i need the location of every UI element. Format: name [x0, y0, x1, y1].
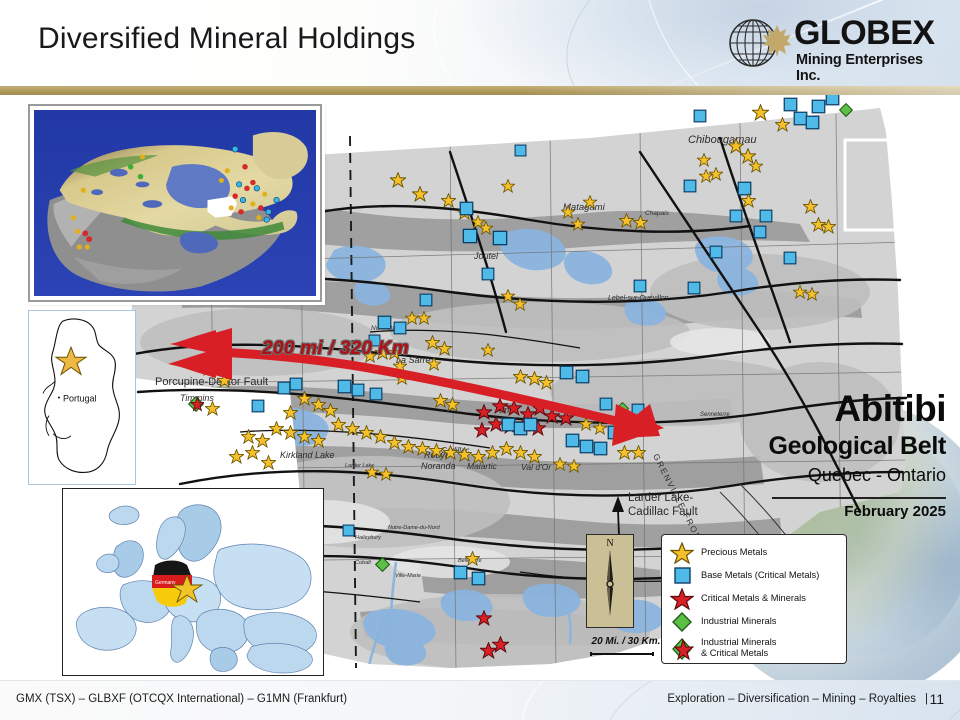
marker-base-metals[interactable]	[579, 439, 594, 454]
scale-bar-label: 20 Mi. / 30 Km.	[578, 636, 674, 647]
marker-base-metals[interactable]	[759, 209, 773, 223]
footer-tickers: GMX (TSX) – GLBXF (OTCQX International) …	[16, 693, 347, 705]
logo-wordmark: GLOBEX	[794, 14, 935, 53]
marker-precious-metals[interactable]	[379, 467, 393, 481]
marker-base-metals[interactable]	[709, 245, 723, 259]
north-america-inset-map	[34, 110, 316, 296]
map-label-senneterre: Senneterre	[700, 412, 730, 418]
marker-precious-metals[interactable]	[631, 445, 646, 460]
marker-base-metals[interactable]	[514, 144, 527, 157]
marker-base-metals[interactable]	[811, 99, 826, 114]
marker-precious-metals[interactable]	[311, 433, 326, 448]
marker-precious-metals[interactable]	[803, 199, 818, 214]
marker-critical-metals[interactable]	[476, 610, 492, 626]
marker-precious-metals[interactable]	[283, 405, 298, 420]
map-label-notre-dame-du-nord: Notre-Dame-du-Nord	[388, 525, 440, 531]
page-title: Diversified Mineral Holdings	[38, 22, 415, 56]
marker-base-metals[interactable]	[559, 365, 574, 380]
legend-label-base-metals: Base Metals (Critical Metals)	[701, 570, 819, 580]
marker-base-metals[interactable]	[337, 379, 352, 394]
legend-label-precious-metals: Precious Metals	[701, 547, 767, 557]
marker-precious-metals[interactable]	[365, 465, 379, 479]
map-label-joutel: Joutel	[474, 251, 498, 261]
footer-tagline: Exploration – Diversification – Mining –…	[667, 693, 916, 705]
marker-precious-metals[interactable]	[513, 445, 528, 460]
marker-precious-metals[interactable]	[245, 445, 260, 460]
star-red-icon	[670, 588, 696, 610]
marker-industrial-minerals[interactable]	[375, 557, 390, 572]
marker-precious-metals[interactable]	[619, 213, 634, 228]
footer-separator: |	[925, 693, 928, 705]
fault-label-porcupine-destor: Porcupine-Destor Fault	[155, 376, 268, 388]
map-label-lebel-sur-qu-villon: Lebel-sur-Quévillon	[608, 295, 669, 302]
legend-label-industrial-critical: Industrial Minerals & Critical Metals	[701, 637, 776, 658]
header-accent-bar-shine	[520, 86, 960, 95]
marker-base-metals[interactable]	[462, 228, 478, 244]
marker-precious-metals[interactable]	[775, 117, 790, 132]
marker-precious-metals[interactable]	[201, 361, 216, 376]
marker-precious-metals[interactable]	[441, 193, 456, 208]
marker-precious-metals[interactable]	[297, 391, 312, 406]
marker-precious-metals[interactable]	[579, 417, 593, 431]
logo-tagline: Mining Enterprises Inc.	[796, 52, 946, 84]
map-label-noranda: Noranda	[421, 461, 456, 471]
fault-label-larder-lake-2: Cadillac Fault	[628, 506, 698, 518]
marker-precious-metals[interactable]	[427, 357, 441, 371]
marker-precious-metals[interactable]	[445, 397, 460, 412]
legend-row-industrial-critical: Industrial Minerals & Critical Metals	[670, 633, 840, 662]
marker-precious-metals[interactable]	[393, 359, 407, 373]
marker-base-metals[interactable]	[342, 524, 355, 537]
map-label-cobalt: Cobalt	[355, 560, 371, 566]
marker-precious-metals[interactable]	[443, 445, 458, 460]
marker-precious-metals[interactable]	[485, 445, 500, 460]
marker-precious-metals[interactable]	[499, 441, 514, 456]
marker-precious-metals[interactable]	[429, 443, 444, 458]
marker-base-metals[interactable]	[575, 369, 590, 384]
marker-base-metals[interactable]	[633, 279, 647, 293]
marker-precious-metals[interactable]	[331, 417, 346, 432]
legend-row-industrial-minerals: Industrial Minerals	[670, 610, 840, 633]
svg-text:Portugal: Portugal	[63, 394, 96, 404]
marker-precious-metals[interactable]	[359, 425, 374, 440]
marker-precious-metals[interactable]	[513, 369, 528, 384]
marker-precious-metals[interactable]	[553, 457, 567, 471]
marker-precious-metals[interactable]	[583, 195, 597, 209]
marker-precious-metals[interactable]	[217, 373, 232, 388]
marker-precious-metals[interactable]	[465, 551, 480, 566]
marker-industrial-and-critical[interactable]	[188, 396, 204, 412]
marker-precious-metals[interactable]	[805, 287, 819, 301]
marker-precious-metals[interactable]	[821, 219, 836, 234]
marker-precious-metals[interactable]	[752, 104, 769, 121]
marker-precious-metals[interactable]	[699, 169, 713, 183]
marker-base-metals[interactable]	[687, 281, 701, 295]
north-america-inset[interactable]	[28, 104, 322, 302]
marker-base-metals[interactable]	[753, 225, 767, 239]
portugal-inset-map: Portugal	[29, 311, 135, 484]
marker-precious-metals[interactable]	[593, 421, 607, 435]
marker-precious-metals[interactable]	[412, 186, 428, 202]
marker-precious-metals[interactable]	[479, 221, 493, 235]
marker-industrial-minerals[interactable]	[839, 103, 853, 117]
presentation-date: February 2025	[844, 504, 946, 519]
footer-page-number: 11	[929, 691, 944, 707]
marker-precious-metals[interactable]	[297, 429, 312, 444]
marker-precious-metals[interactable]	[749, 159, 763, 173]
marker-base-metals[interactable]	[459, 201, 474, 216]
marker-precious-metals[interactable]	[387, 435, 402, 450]
marker-base-metals[interactable]	[599, 397, 613, 411]
marker-precious-metals[interactable]	[567, 459, 581, 473]
marker-precious-metals[interactable]	[345, 421, 360, 436]
marker-base-metals[interactable]	[783, 251, 797, 265]
slide-footer: GMX (TSX) – GLBXF (OTCQX International) …	[0, 680, 960, 720]
marker-precious-metals[interactable]	[471, 449, 486, 464]
europe-inset-map: Germany	[63, 489, 323, 675]
marker-base-metals[interactable]	[683, 179, 697, 193]
region-title: Abitibi	[834, 390, 946, 427]
marker-base-metals[interactable]	[369, 387, 383, 401]
marker-precious-metals[interactable]	[390, 172, 406, 188]
marker-precious-metals[interactable]	[617, 445, 632, 460]
marker-base-metals[interactable]	[351, 383, 365, 397]
marker-precious-metals[interactable]	[527, 449, 542, 464]
marker-base-metals[interactable]	[783, 97, 798, 112]
region-divider	[772, 497, 946, 499]
map-label-kirkland-lake: Kirkland Lake	[280, 450, 335, 460]
map-legend[interactable]: Precious Metals Base Metals (Critical Me…	[661, 534, 847, 664]
marker-base-metals[interactable]	[492, 230, 508, 246]
region-subtitle: Geological Belt	[769, 434, 946, 459]
marker-base-metals[interactable]	[805, 115, 820, 130]
europe-inset[interactable]: Germany	[62, 488, 324, 676]
marker-precious-metals[interactable]	[697, 153, 711, 167]
marker-critical-metals[interactable]	[492, 636, 509, 653]
legend-row-base-metals: Base Metals (Critical Metals)	[670, 564, 840, 587]
marker-precious-metals[interactable]	[261, 455, 276, 470]
marker-base-metals[interactable]	[693, 109, 707, 123]
marker-precious-metals[interactable]	[417, 311, 431, 325]
marker-precious-metals[interactable]	[457, 447, 472, 462]
map-label-haileybury: Haileybury	[355, 535, 381, 541]
marker-base-metals[interactable]	[593, 441, 608, 456]
legend-label-industrial-minerals: Industrial Minerals	[701, 616, 776, 626]
marker-precious-metals[interactable]	[741, 193, 756, 208]
marker-base-metals[interactable]	[251, 399, 265, 413]
marker-base-metals[interactable]	[481, 267, 495, 281]
diamond-green-icon	[670, 611, 696, 633]
marker-precious-metals[interactable]	[323, 403, 338, 418]
marker-base-metals[interactable]	[631, 403, 645, 417]
marker-precious-metals[interactable]	[373, 429, 388, 444]
marker-precious-metals[interactable]	[401, 439, 416, 454]
marker-base-metals[interactable]	[523, 417, 538, 432]
fault-label-larder-lake-1: Larder Lake-	[628, 492, 693, 504]
marker-precious-metals[interactable]	[415, 441, 430, 456]
marker-industrial-minerals[interactable]	[616, 402, 629, 415]
marker-base-metals[interactable]	[729, 209, 743, 223]
legend-label-critical-metals: Critical Metals & Minerals	[701, 593, 806, 603]
compass-rose: N	[586, 534, 634, 628]
marker-precious-metals[interactable]	[205, 401, 220, 416]
square-blue-icon	[670, 565, 696, 587]
region-provinces: Quebec - Ontario	[808, 466, 946, 484]
marker-precious-metals[interactable]	[539, 375, 554, 390]
slide-header: Diversified Mineral Holdings GLOBEX Mini…	[0, 0, 960, 86]
marker-base-metals[interactable]	[419, 293, 433, 307]
marker-precious-metals[interactable]	[513, 297, 527, 311]
marker-base-metals[interactable]	[377, 315, 392, 330]
marker-precious-metals[interactable]	[501, 179, 515, 193]
marker-precious-metals[interactable]	[241, 429, 256, 444]
maple-leaf-icon	[762, 24, 792, 58]
marker-critical-metals[interactable]	[558, 410, 574, 426]
map-label-chibougamau: Chibougamau	[688, 134, 757, 146]
globex-logo[interactable]: GLOBEX Mining Enterprises Inc.	[728, 12, 946, 74]
map-label-ville-marie: Ville-Marie	[395, 573, 421, 579]
diamond-star-split-icon	[670, 637, 696, 659]
marker-base-metals[interactable]	[289, 377, 303, 391]
marker-critical-metals[interactable]	[474, 422, 490, 438]
marker-base-metals[interactable]	[453, 565, 468, 580]
portugal-inset[interactable]: Portugal	[28, 310, 136, 485]
scale-bar	[590, 652, 654, 656]
marker-precious-metals[interactable]	[481, 343, 495, 357]
marker-precious-metals[interactable]	[283, 425, 298, 440]
star-yellow-icon	[670, 542, 696, 564]
distance-arrow-label: 200 mi / 320 Km	[262, 338, 409, 360]
marker-base-metals[interactable]	[607, 425, 622, 440]
compass-needle-icon	[586, 534, 634, 626]
legend-row-precious-metals: Precious Metals	[670, 541, 840, 564]
marker-precious-metals[interactable]	[633, 215, 648, 230]
marker-precious-metals[interactable]	[571, 217, 585, 231]
map-label-chapais: Chapais	[645, 210, 669, 217]
marker-precious-metals[interactable]	[437, 341, 452, 356]
marker-precious-metals[interactable]	[229, 449, 244, 464]
legend-row-critical-metals: Critical Metals & Minerals	[670, 587, 840, 610]
marker-precious-metals[interactable]	[395, 371, 409, 385]
marker-base-metals[interactable]	[565, 433, 580, 448]
marker-precious-metals[interactable]	[269, 421, 284, 436]
marker-base-metals[interactable]	[471, 571, 486, 586]
slide-root: ChibougamauChapaisMatagamiJoutelLebel-su…	[0, 0, 960, 720]
